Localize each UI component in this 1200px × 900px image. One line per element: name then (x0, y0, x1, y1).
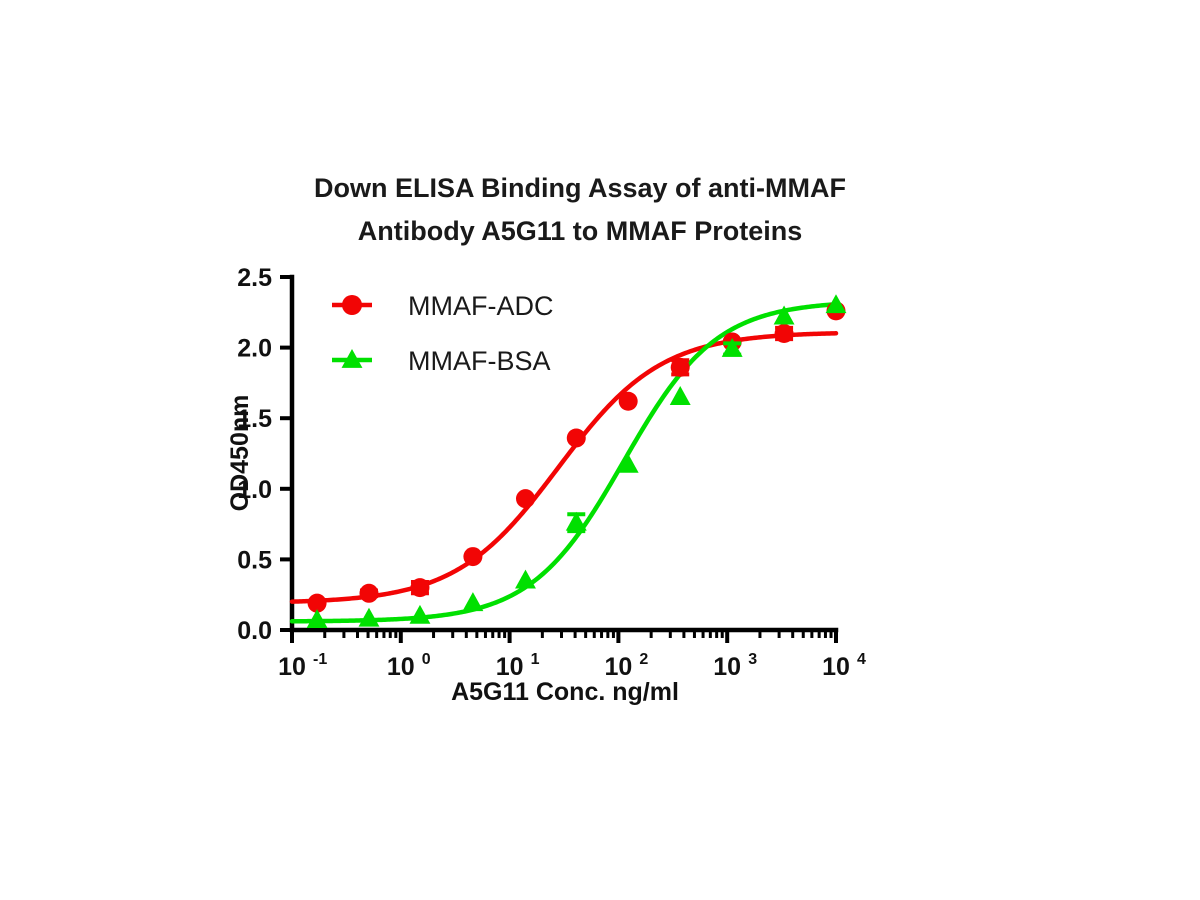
x-axis-title: A5G11 Conc. ng/ml (451, 678, 679, 706)
svg-text:1: 1 (531, 651, 540, 668)
svg-text:4: 4 (857, 651, 866, 668)
y-axis-title: OD450nm (226, 395, 254, 512)
data-point (619, 392, 638, 411)
dose-response-chart: Down ELISA Binding Assay of anti-MMAF An… (0, 0, 1200, 900)
data-point (463, 547, 482, 566)
svg-text:3: 3 (748, 651, 757, 668)
svg-text:10: 10 (496, 653, 524, 681)
y-axis-tick-label: 2.5 (237, 264, 272, 292)
data-point (359, 584, 378, 603)
y-axis-tick-label: 2.0 (237, 335, 272, 363)
chart-background (0, 0, 1200, 900)
legend-marker (342, 295, 362, 315)
data-point (516, 489, 535, 508)
legend-label: MMAF-ADC (408, 291, 553, 321)
legend-label: MMAF-BSA (408, 346, 551, 376)
svg-text:10: 10 (604, 653, 632, 681)
chart-figure: Down ELISA Binding Assay of anti-MMAF An… (0, 0, 1200, 900)
data-point (775, 324, 794, 343)
chart-title-line-1: Down ELISA Binding Assay of anti-MMAF (314, 173, 846, 203)
svg-text:2: 2 (639, 651, 648, 668)
svg-text:10: 10 (822, 653, 850, 681)
y-axis-tick-label: 0.0 (237, 617, 272, 645)
data-point (410, 578, 429, 597)
svg-text:-1: -1 (313, 651, 327, 668)
svg-text:0: 0 (422, 651, 431, 668)
data-point (567, 428, 586, 447)
svg-text:10: 10 (387, 653, 415, 681)
svg-text:10: 10 (278, 653, 306, 681)
svg-text:10: 10 (713, 653, 741, 681)
data-point (671, 358, 690, 377)
y-axis-tick-label: 0.5 (237, 546, 272, 574)
chart-title-line-2: Antibody A5G11 to MMAF Proteins (358, 216, 803, 246)
